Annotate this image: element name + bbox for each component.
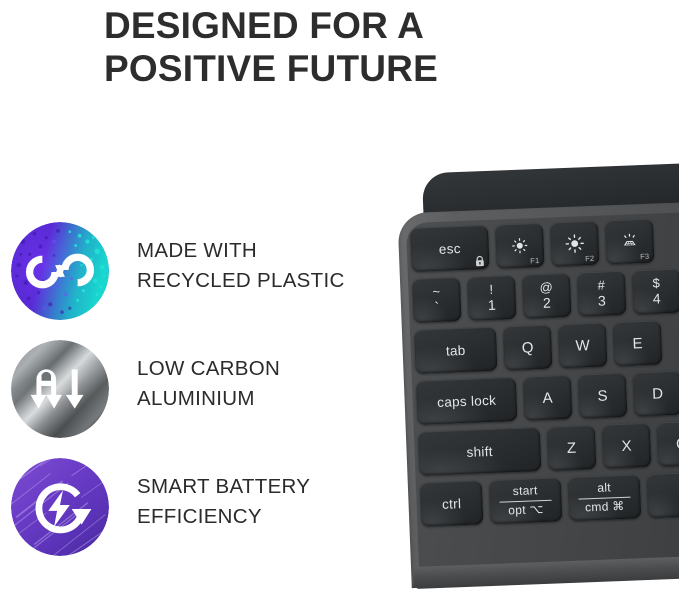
key-label: Q [522, 339, 534, 356]
key-f3[interactable]: F3 [605, 219, 655, 265]
key-alt-cmd[interactable]: alt cmd ⌘ [568, 474, 642, 521]
key-label-secondary: opt ⌥ [508, 502, 544, 518]
key-label: tab [446, 342, 466, 358]
key-esc[interactable]: esc [410, 225, 490, 272]
recycled-plastic-icon [11, 222, 109, 320]
feature-list: MADE WITH RECYCLED PLASTIC [0, 222, 390, 576]
key-label: S [597, 387, 608, 404]
keyboard-product-image: esc F1 F2 [388, 168, 679, 598]
key-4[interactable]: $ 4 [632, 269, 679, 315]
key-fn-label: F1 [530, 256, 539, 265]
key-q[interactable]: Q [503, 325, 553, 371]
home-row: caps lock A S D [416, 369, 679, 424]
list-item-label: MADE WITH RECYCLED PLASTIC [137, 236, 345, 296]
key-label: esc [439, 240, 461, 256]
key-backtick[interactable]: ~ ` [412, 277, 462, 323]
key-label-primary: start [512, 483, 537, 499]
key-label: 4 [653, 291, 662, 306]
number-row: ~ ` ! 1 @ 2 [412, 267, 679, 322]
key-tab[interactable]: tab [414, 327, 498, 374]
key-w[interactable]: W [558, 322, 608, 368]
key-label: shift [466, 443, 493, 459]
key-label-primary: alt [597, 480, 611, 496]
low-carbon-aluminium-icon [11, 340, 109, 438]
key-shift[interactable]: shift [418, 427, 542, 476]
list-item: LOW CARBON ALUMINIUM [0, 340, 390, 458]
key-d[interactable]: D [633, 371, 679, 417]
key-label: ` [434, 300, 440, 315]
modifier-row: ctrl start opt ⌥ alt cmd ⌘ [420, 471, 679, 526]
smart-battery-efficiency-icon [11, 458, 109, 556]
key-label: W [575, 337, 590, 355]
key-fn-label: F3 [640, 252, 649, 261]
key-shifted-label: ~ [432, 285, 440, 299]
key-x[interactable]: X [602, 423, 652, 469]
key-label: A [542, 389, 553, 406]
qwerty-row: tab Q W E [414, 318, 679, 373]
key-label: 3 [598, 293, 607, 308]
key-start-opt[interactable]: start opt ⌥ [489, 477, 563, 524]
key-partial[interactable] [647, 472, 679, 518]
key-a[interactable]: A [523, 375, 573, 421]
keyboard-backlight-icon [619, 231, 640, 252]
key-fn-label: F2 [585, 254, 594, 263]
list-item: SMART BATTERY EFFICIENCY [0, 458, 390, 576]
key-3[interactable]: # 3 [577, 271, 627, 317]
key-shifted-label: # [597, 279, 605, 293]
key-2[interactable]: @ 2 [522, 273, 572, 319]
key-caps-lock[interactable]: caps lock [416, 377, 518, 425]
page-title: DESIGNED FOR A POSITIVE FUTURE [104, 4, 574, 90]
key-e[interactable]: E [613, 320, 663, 366]
key-f2[interactable]: F2 [550, 221, 600, 267]
key-label: caps lock [437, 392, 497, 409]
key-shifted-label: @ [539, 281, 553, 295]
key-label-secondary: cmd ⌘ [585, 499, 625, 516]
key-label: D [652, 385, 663, 402]
key-1[interactable]: ! 1 [467, 275, 517, 321]
keyboard-rows: esc F1 F2 [410, 216, 679, 533]
key-shifted-label: ! [489, 283, 493, 297]
key-label: X [621, 437, 632, 454]
list-item: MADE WITH RECYCLED PLASTIC [0, 222, 390, 340]
key-label: Z [567, 439, 577, 456]
key-ctrl[interactable]: ctrl [420, 480, 484, 526]
key-c[interactable]: C [657, 421, 679, 467]
brightness-down-icon [509, 235, 530, 256]
key-shifted-label: $ [652, 277, 660, 291]
list-item-label: LOW CARBON ALUMINIUM [137, 354, 280, 414]
key-s[interactable]: S [578, 373, 628, 419]
key-label: 1 [488, 298, 497, 313]
brightness-up-icon [564, 233, 585, 254]
key-label: 2 [543, 296, 552, 311]
key-z[interactable]: Z [547, 425, 597, 471]
lock-icon [474, 255, 485, 267]
key-f1[interactable]: F1 [495, 223, 545, 269]
key-label: E [632, 335, 643, 352]
shift-row: shift Z X C [418, 420, 679, 475]
list-item-label: SMART BATTERY EFFICIENCY [137, 472, 310, 532]
key-label: ctrl [442, 496, 462, 512]
